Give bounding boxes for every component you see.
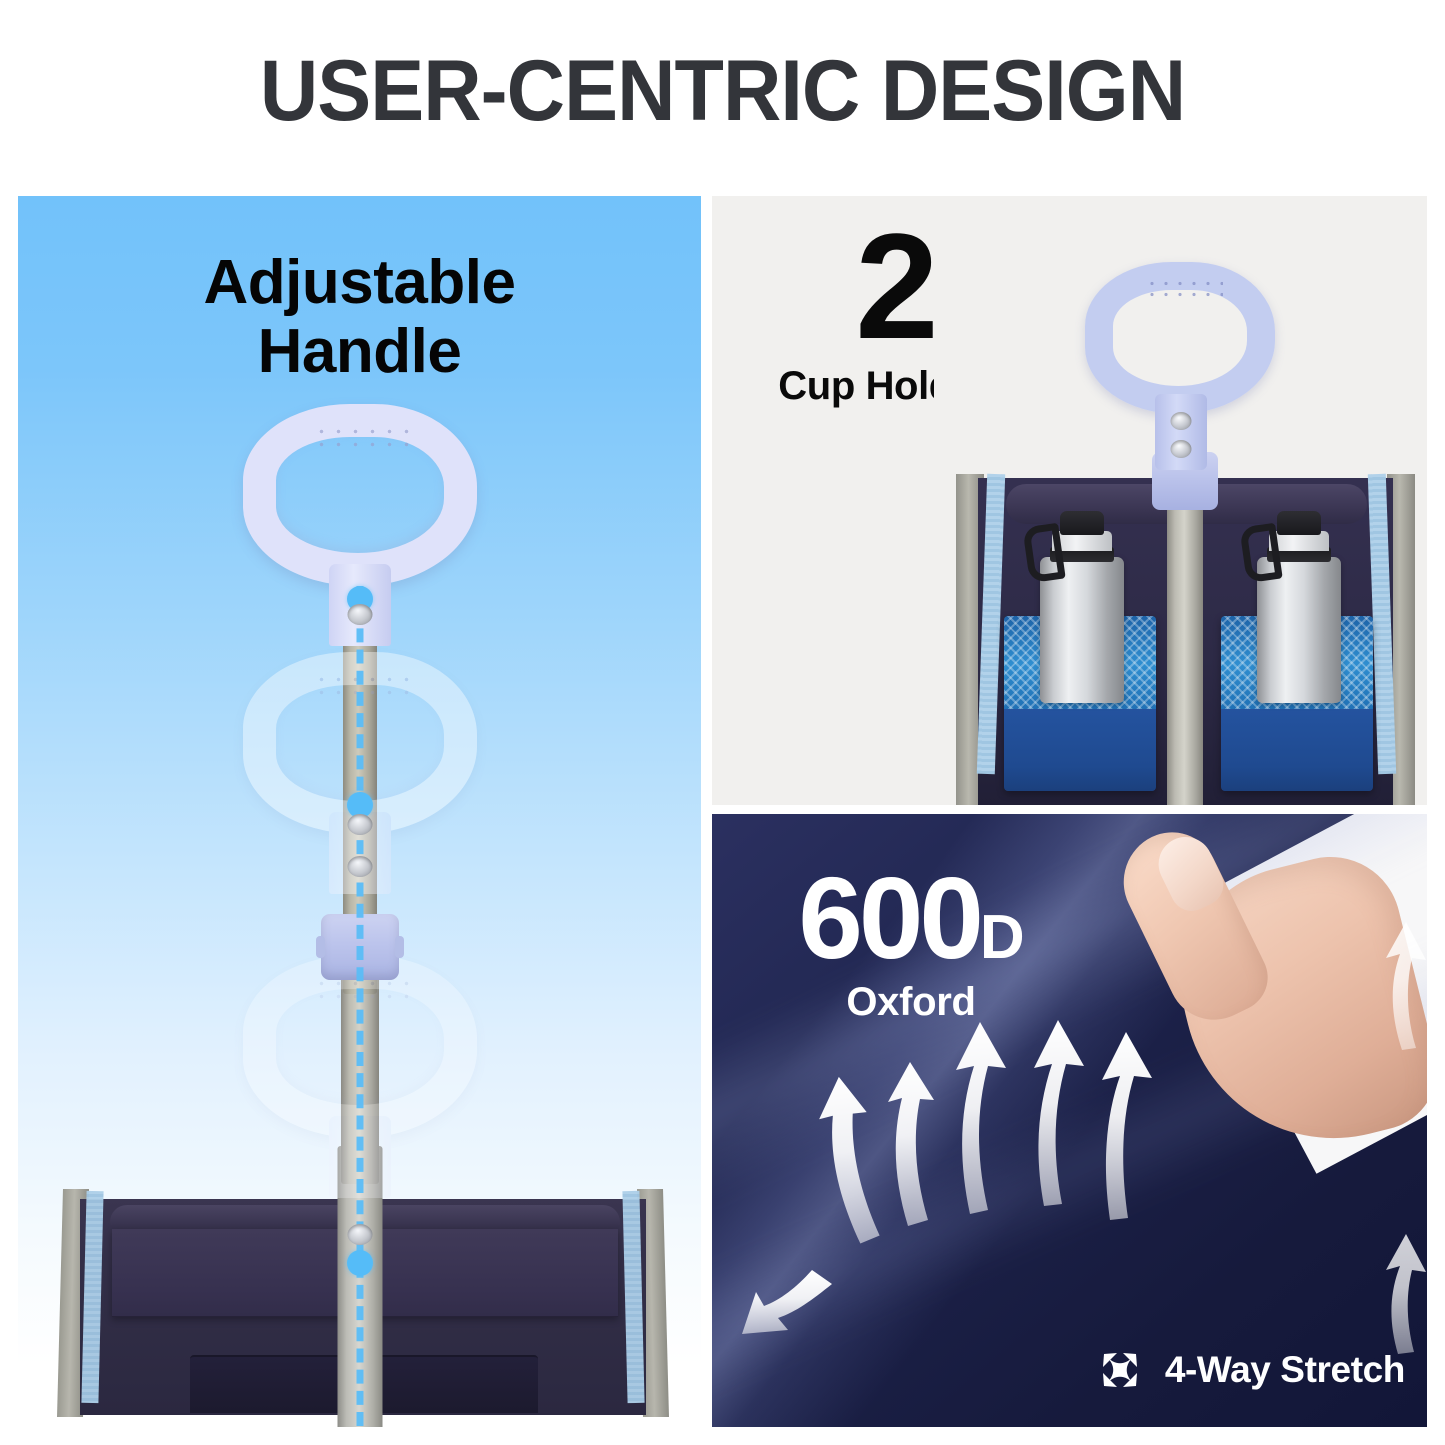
handle-stem: [1155, 394, 1207, 470]
handle-caption-line2: Handle: [18, 317, 701, 386]
cup-holders-photo: [934, 196, 1427, 805]
bottle-cap: [1277, 511, 1321, 535]
cart-body-icon: [942, 440, 1427, 805]
page-title: USER-CENTRIC DESIGN: [43, 48, 1401, 134]
panel-cup-holders: 2 Cup Holders: [712, 196, 1427, 805]
fabric-denier-value: 600: [798, 853, 980, 983]
fabric-type-label: Oxford: [746, 980, 1076, 1025]
adjustment-button-hole-icon: [347, 1224, 372, 1245]
stretch-badge-label: 4-Way Stretch: [1165, 1349, 1405, 1391]
dashed-adjustment-line-icon: [356, 586, 363, 1426]
adjustment-button-hole-icon: [347, 856, 372, 877]
pocket-panel: [1221, 709, 1373, 791]
panel-adjustable-handle: Adjustable Handle: [18, 196, 701, 1427]
telescoping-handle-assembly: [230, 404, 490, 1427]
water-bottle-icon: [1034, 503, 1130, 703]
handle-vent-dots-icon: [313, 425, 409, 451]
adjustment-button-hole-icon: [347, 814, 372, 835]
handle-vent-dots-icon: [1145, 278, 1223, 300]
four-way-stretch-icon: [1091, 1341, 1149, 1399]
oxford-stat: 600D Oxford: [746, 862, 1076, 1025]
fabric-denier-suffix: D: [980, 903, 1024, 972]
water-bottle-icon: [1251, 503, 1347, 703]
adjustment-button-marker: [347, 1250, 373, 1276]
d-ring-handle-icon: [1081, 262, 1281, 462]
handle-caption-line1: Adjustable: [18, 248, 701, 317]
pinching-hand-icon: [1119, 820, 1419, 1150]
product-feature-infographic: USER-CENTRIC DESIGN Adjustable Handle: [0, 0, 1445, 1445]
bottle-cap: [1060, 511, 1104, 535]
adjustment-button-hole-icon: [1170, 412, 1191, 430]
adjustment-button-hole-icon: [1170, 440, 1191, 458]
adjustment-button-hole-icon: [347, 604, 372, 625]
panel-oxford-fabric: 600D Oxford 4-Way Stretch: [712, 814, 1427, 1427]
status-badge: 4-Way Stretch: [1091, 1341, 1405, 1399]
header: USER-CENTRIC DESIGN: [0, 48, 1445, 134]
handle-caption: Adjustable Handle: [18, 248, 701, 387]
fabric-denier: 600D: [746, 862, 1076, 976]
pocket-panel: [1004, 709, 1156, 791]
